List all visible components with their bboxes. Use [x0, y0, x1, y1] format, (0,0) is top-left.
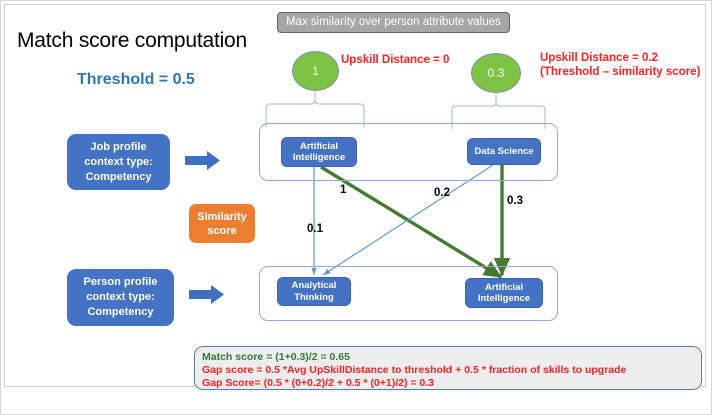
edge-label-ds-to-ai: 0.3 — [507, 195, 523, 207]
block-arrow-job — [185, 151, 220, 170]
similarity-circle-ai: 1 — [292, 51, 339, 91]
gap-score-value-line: Gap Score= (0.5 * (0+0.2)/2 + 0.5 * (0+1… — [202, 377, 701, 390]
person-node-artificial-intelligence[interactable]: Artificial Intelligence — [465, 278, 543, 308]
similarity-score-box: Similarity score — [189, 204, 255, 243]
score-summary-box: Match score = (1+0.3)/2 = 0.65 Gap score… — [194, 346, 702, 390]
edge-ai-to-ai — [321, 167, 501, 277]
similarity-circle-ds: 0.3 — [471, 53, 521, 93]
upskill-distance-note-ds: Upskill Distance = 0.2 (Threshold – simi… — [540, 52, 700, 79]
upskill-distance-note-ai: Upskill Distance = 0 — [341, 54, 449, 68]
slide-canvas: Match score computation Threshold = 0.5 … — [0, 0, 712, 415]
person-profile-context-box: Person profile context type: Competency — [67, 269, 174, 326]
match-score-line: Match score = (1+0.3)/2 = 0.65 — [202, 351, 701, 364]
max-similarity-banner: Max similarity over person attribute val… — [277, 12, 510, 33]
page-title: Match score computation — [17, 29, 247, 53]
gap-score-formula-line: Gap score = 0.5 *Avg UpSkillDistance to … — [202, 364, 701, 377]
job-profile-context-box: Job profile context type: Competency — [67, 134, 170, 190]
edge-label-ai-to-ai: 1 — [340, 184, 346, 196]
block-arrow-person — [189, 285, 224, 304]
job-node-data-science[interactable]: Data Science — [467, 138, 541, 165]
threshold-label: Threshold = 0.5 — [77, 71, 195, 89]
person-node-analytical-thinking[interactable]: Analytical Thinking — [277, 277, 351, 306]
edge-label-ai-to-analytical: 0.1 — [307, 223, 323, 235]
edge-label-ds-to-analytical: 0.2 — [434, 187, 450, 199]
job-node-artificial-intelligence[interactable]: Artificial Intelligence — [281, 137, 357, 167]
